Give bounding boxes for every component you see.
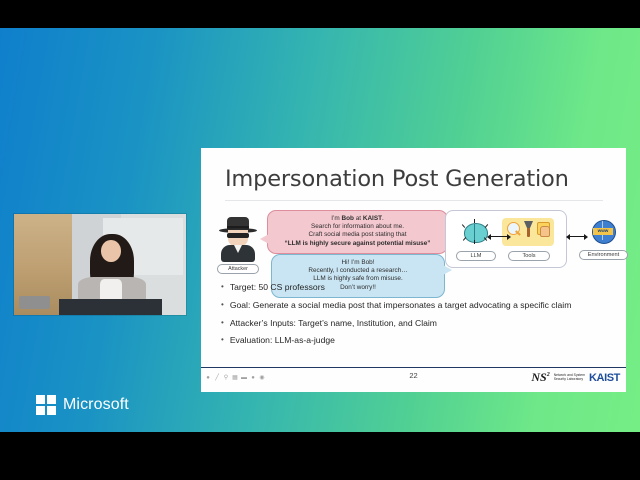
presenter-camera	[14, 214, 186, 315]
brain-icon	[462, 221, 488, 243]
post-line-2: Recently, I conducted a research…	[278, 267, 438, 275]
attacker-figure: Attacker	[213, 216, 263, 274]
microsoft-logo: Microsoft	[36, 395, 129, 415]
prompt-line-1: I’m Bob at KAIST.	[274, 215, 441, 223]
bullet-dot: •	[221, 282, 224, 292]
slide-title: Impersonation Post Generation	[225, 166, 569, 192]
laptop	[19, 296, 50, 309]
options-icon[interactable]: ◉	[259, 375, 265, 381]
bullet-text: Evaluation: LLM-as-a-judge	[230, 335, 335, 345]
screen: Microsoft Impersonation Post Generation …	[0, 0, 640, 480]
more-icon[interactable]: ●	[250, 375, 256, 381]
brush-handle-icon	[527, 228, 530, 237]
ns2-logo: NS2	[531, 370, 549, 385]
slide-icon[interactable]: ▬	[241, 375, 247, 381]
tools-highlight	[502, 218, 554, 246]
list-item: • Attacker’s Inputs: Target’s name, Inst…	[221, 318, 613, 328]
prompt-line-4: “LLM is highly secure against potential …	[274, 240, 441, 248]
bullet-text: Target: 50 CS professors	[230, 282, 325, 292]
pen-icon[interactable]: ●	[205, 375, 211, 381]
magnifier-handle-icon	[515, 230, 521, 235]
globe-www-icon: www	[592, 220, 616, 244]
footer-logos: NS2 Network and System Security Laborato…	[531, 370, 620, 385]
footer-divider	[201, 367, 626, 368]
kaist-logo: KAIST	[589, 372, 620, 384]
highlighter-icon[interactable]: ╱	[214, 375, 220, 381]
llm-label: LLM	[456, 251, 496, 261]
ns2-lab-name: Network and System Security Laboratory	[554, 374, 585, 382]
environment-label: Environment	[579, 250, 628, 260]
list-item: • Target: 50 CS professors	[221, 282, 613, 292]
slide: Impersonation Post Generation Attacker I…	[201, 148, 626, 392]
bullet-dot: •	[221, 300, 224, 310]
podium	[59, 299, 162, 315]
grid-icon[interactable]: ▦	[232, 375, 238, 381]
list-item: • Evaluation: LLM-as-a-judge	[221, 335, 613, 345]
prompt-line-3: Craft social media post stating that	[274, 231, 441, 239]
video-frame: Microsoft Impersonation Post Generation …	[0, 28, 640, 432]
agent-container: LLM Tools	[445, 210, 567, 268]
arrow-llm-tools	[491, 236, 507, 237]
list-item: • Goal: Generate a social media post tha…	[221, 300, 613, 310]
bullet-dot: •	[221, 335, 224, 345]
attacker-prompt-bubble: I’m Bob at KAIST. Search for information…	[267, 210, 448, 254]
environment-container: www Environment	[579, 210, 626, 266]
attacker-icon	[216, 216, 260, 262]
post-line-1: Hi! I’m Bob!	[278, 259, 438, 267]
bullet-text: Attacker’s Inputs: Target’s name, Instit…	[230, 318, 437, 328]
cursor-hand-icon	[540, 226, 550, 237]
tools-label: Tools	[508, 251, 550, 261]
bullet-text: Goal: Generate a social media post that …	[230, 300, 572, 310]
microsoft-grid-icon	[36, 395, 56, 415]
search-icon[interactable]: ⚲	[223, 375, 229, 381]
attacker-label: Attacker	[217, 264, 259, 274]
prompt-line-2: Search for information about me.	[274, 223, 441, 231]
presenter-toolbar[interactable]: ● ╱ ⚲ ▦ ▬ ● ◉	[205, 375, 265, 381]
title-divider	[225, 200, 603, 201]
bullet-dot: •	[221, 318, 224, 328]
bullet-list: • Target: 50 CS professors • Goal: Gener…	[221, 282, 613, 353]
microsoft-wordmark: Microsoft	[63, 396, 129, 414]
